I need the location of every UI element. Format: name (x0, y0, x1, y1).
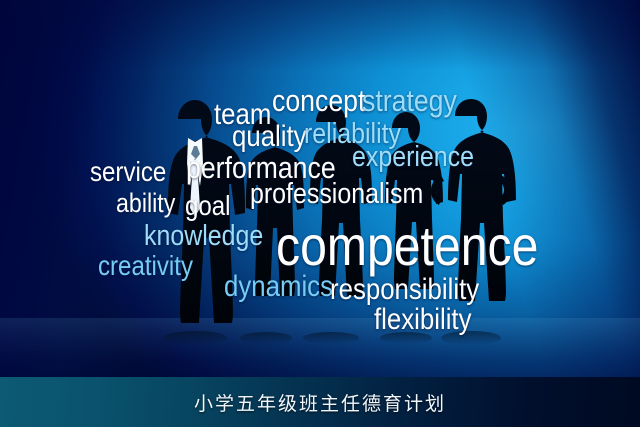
word-cloud-term-professionalism: professionalism (250, 180, 423, 209)
caption-bar: 小学五年级班主任德育计划 (0, 377, 640, 427)
word-cloud-term-strategy: strategy (362, 85, 457, 116)
word-cloud-term-creativity: creativity (98, 252, 193, 280)
word-cloud: teamconceptstrategyqualityreliabilityser… (0, 0, 640, 427)
word-cloud-term-flexibility: flexibility (374, 305, 472, 335)
word-cloud-term-concept: concept (272, 85, 365, 116)
word-cloud-term-competence: competence (276, 218, 538, 274)
word-cloud-term-experience: experience (352, 143, 474, 172)
word-cloud-term-responsibility: responsibility (330, 275, 479, 305)
word-cloud-term-ability: ability (116, 190, 175, 217)
image-canvas: teamconceptstrategyqualityreliabilityser… (0, 0, 640, 427)
caption-text: 小学五年级班主任德育计划 (194, 389, 446, 416)
word-cloud-term-goal: goal (185, 192, 231, 220)
word-cloud-term-quality: quality (232, 122, 307, 152)
word-cloud-term-knowledge: knowledge (144, 222, 263, 251)
word-cloud-term-dynamics: dynamics (224, 272, 333, 302)
word-cloud-term-service: service (90, 158, 166, 186)
